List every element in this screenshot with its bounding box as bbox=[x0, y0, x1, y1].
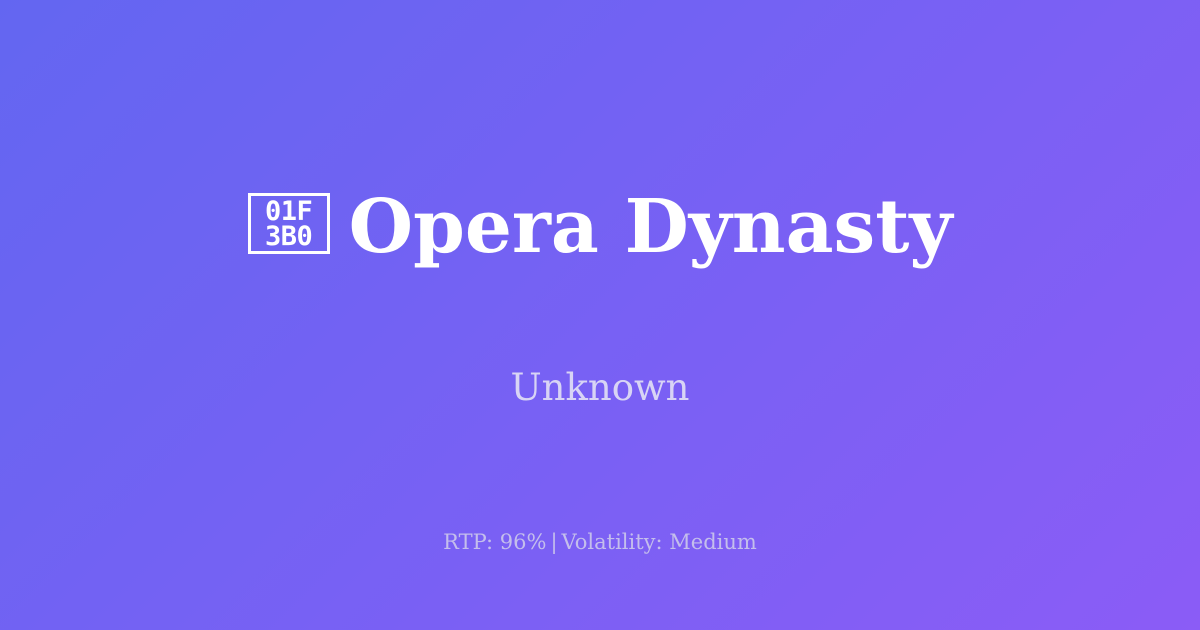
game-stats-footer: RTP: 96%|Volatility: Medium bbox=[0, 529, 1200, 556]
slot-machine-icon: 01F 3B0 bbox=[248, 193, 330, 254]
game-title-text: Opera Dynasty bbox=[349, 189, 953, 267]
footer-separator: | bbox=[546, 530, 561, 554]
game-provider-subtitle: Unknown bbox=[0, 365, 1200, 411]
volatility-value: Volatility: Medium bbox=[562, 530, 757, 554]
rtp-value: RTP: 96% bbox=[443, 530, 546, 554]
game-preview-card: 01F 3B0 Opera Dynasty Unknown RTP: 96%|V… bbox=[0, 0, 1200, 630]
page-title: 01F 3B0 Opera Dynasty bbox=[248, 189, 953, 267]
tofu-codepoint-bottom: 3B0 bbox=[265, 224, 312, 249]
tofu-codepoint-top: 01F bbox=[265, 199, 312, 224]
